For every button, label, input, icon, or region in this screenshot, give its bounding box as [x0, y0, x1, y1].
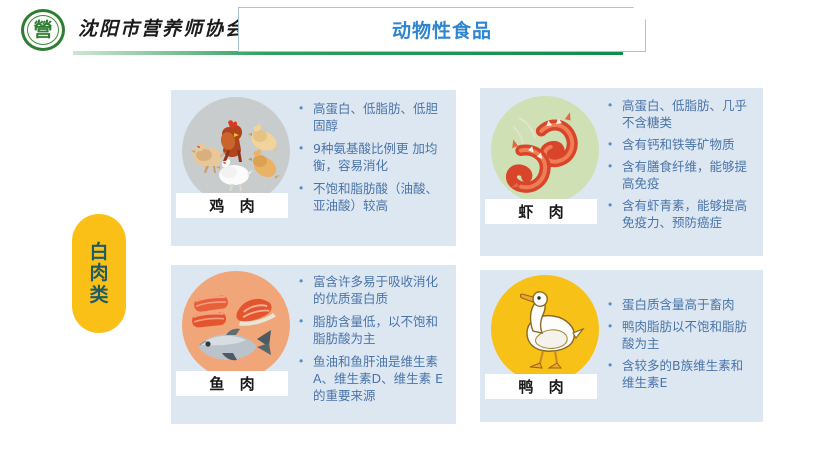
logo-glyph: 營 [27, 15, 59, 45]
bullet-text: 蛋白质含量高于畜肉 [622, 296, 735, 313]
bullet-text: 高蛋白、低脂肪、几乎不含糖类 [622, 97, 755, 131]
chickens-illustration [182, 97, 290, 205]
bullet-marker-icon: • [299, 100, 313, 117]
bullet-text: 含较多的B族维生素和维生素E [622, 357, 755, 391]
bullet-marker-icon: • [608, 296, 622, 313]
duck-illustration [491, 275, 599, 383]
bullet-marker-icon: • [299, 313, 313, 330]
bullet-item: • 蛋白质含量高于畜肉 [608, 296, 755, 313]
card-label-duck: 鸭 肉 [485, 374, 597, 399]
bullet-text: 9种氨基酸比例更 加均衡，容易消化 [313, 140, 448, 174]
bullet-list-shrimp: • 高蛋白、低脂肪、几乎不含糖类 • 含有钙和铁等矿物质 • 含有膳食纤维，能够… [608, 97, 755, 236]
bullet-item: • 含有虾青素，能够提高免疫力、预防癌症 [608, 197, 755, 231]
category-badge-white-meat: 白 肉 类 [72, 214, 126, 333]
bullet-text: 鱼油和鱼肝油是维生素A、维生素D、维生素 E的重要来源 [313, 353, 448, 404]
bullet-text: 不饱和脂肪酸（油酸、亚油酸）较高 [313, 180, 448, 214]
card-label-text: 鸭 肉 [513, 376, 568, 397]
bullet-item: • 高蛋白、低脂肪、低胆固醇 [299, 100, 448, 134]
card-label-fish: 鱼 肉 [176, 371, 288, 396]
card-label-text: 鱼 肉 [204, 373, 259, 394]
bullet-marker-icon: • [299, 140, 313, 157]
card-label-text: 鸡 肉 [204, 195, 259, 216]
bullet-text: 含有钙和铁等矿物质 [622, 136, 735, 153]
bullet-item: • 鱼油和鱼肝油是维生素A、维生素D、维生素 E的重要来源 [299, 353, 448, 404]
food-card-chicken: 鸡 肉 • 高蛋白、低脂肪、低胆固醇 • 9种氨基酸比例更 加均衡，容易消化 •… [171, 90, 456, 246]
bullet-item: • 富含许多易于吸收消化的优质蛋白质 [299, 273, 448, 307]
bullet-marker-icon: • [608, 197, 622, 214]
food-card-shrimp: 虾 肉 • 高蛋白、低脂肪、几乎不含糖类 • 含有钙和铁等矿物质 • 含有膳食纤… [480, 88, 763, 256]
category-char-2: 肉 [89, 263, 108, 284]
bullet-text: 脂肪含量低，以不饱和脂肪酸为主 [313, 313, 448, 347]
bullet-item: • 9种氨基酸比例更 加均衡，容易消化 [299, 140, 448, 174]
card-label-shrimp: 虾 肉 [485, 199, 597, 224]
bullet-item: • 高蛋白、低脂肪、几乎不含糖类 [608, 97, 755, 131]
category-char-3: 类 [89, 285, 108, 306]
bullet-marker-icon: • [299, 353, 313, 370]
bullet-text: 含有膳食纤维，能够提高免疫 [622, 158, 755, 192]
food-card-duck: 鸭 肉 • 蛋白质含量高于畜肉 • 鸭肉脂肪以不饱和脂肪酸为主 • 含较多的B族… [480, 270, 763, 422]
bullet-marker-icon: • [608, 318, 622, 335]
bullet-list-duck: • 蛋白质含量高于畜肉 • 鸭肉脂肪以不饱和脂肪酸为主 • 含较多的B族维生素和… [608, 296, 755, 396]
organization-name: 沈阳市营养师协会 [78, 14, 246, 41]
bullet-item: • 含有膳食纤维，能够提高免疫 [608, 158, 755, 192]
bullet-marker-icon: • [608, 158, 622, 175]
food-card-fish: 鱼 肉 • 富含许多易于吸收消化的优质蛋白质 • 脂肪含量低，以不饱和脂肪酸为主… [171, 265, 456, 424]
bullet-item: • 含有钙和铁等矿物质 [608, 136, 755, 153]
bullet-item: • 不饱和脂肪酸（油酸、亚油酸）较高 [299, 180, 448, 214]
bullet-item: • 鸭肉脂肪以不饱和脂肪酸为主 [608, 318, 755, 352]
category-char-1: 白 [89, 242, 108, 263]
bullet-text: 鸭肉脂肪以不饱和脂肪酸为主 [622, 318, 755, 352]
fish-and-salmon-illustration [182, 271, 290, 379]
association-seal-logo: 營 [21, 9, 65, 51]
bullet-item: • 脂肪含量低，以不饱和脂肪酸为主 [299, 313, 448, 347]
shrimp-illustration [491, 96, 599, 204]
bullet-item: • 含较多的B族维生素和维生素E [608, 357, 755, 391]
bullet-text: 富含许多易于吸收消化的优质蛋白质 [313, 273, 448, 307]
bullet-marker-icon: • [299, 273, 313, 290]
slide-canvas: 營 沈阳市营养师协会 动物性食品 白 肉 类 [0, 0, 830, 457]
bullet-marker-icon: • [299, 180, 313, 197]
slide-title-box: 动物性食品 [238, 7, 646, 52]
bullet-list-chicken: • 高蛋白、低脂肪、低胆固醇 • 9种氨基酸比例更 加均衡，容易消化 • 不饱和… [299, 100, 448, 220]
bullet-marker-icon: • [608, 136, 622, 153]
bullet-text: 高蛋白、低脂肪、低胆固醇 [313, 100, 448, 134]
page-title: 动物性食品 [392, 16, 492, 43]
card-label-text: 虾 肉 [513, 201, 568, 222]
bullet-marker-icon: • [608, 357, 622, 374]
card-label-chicken: 鸡 肉 [176, 193, 288, 218]
bullet-marker-icon: • [608, 97, 622, 114]
bullet-list-fish: • 富含许多易于吸收消化的优质蛋白质 • 脂肪含量低，以不饱和脂肪酸为主 • 鱼… [299, 273, 448, 410]
bullet-text: 含有虾青素，能够提高免疫力、预防癌症 [622, 197, 755, 231]
